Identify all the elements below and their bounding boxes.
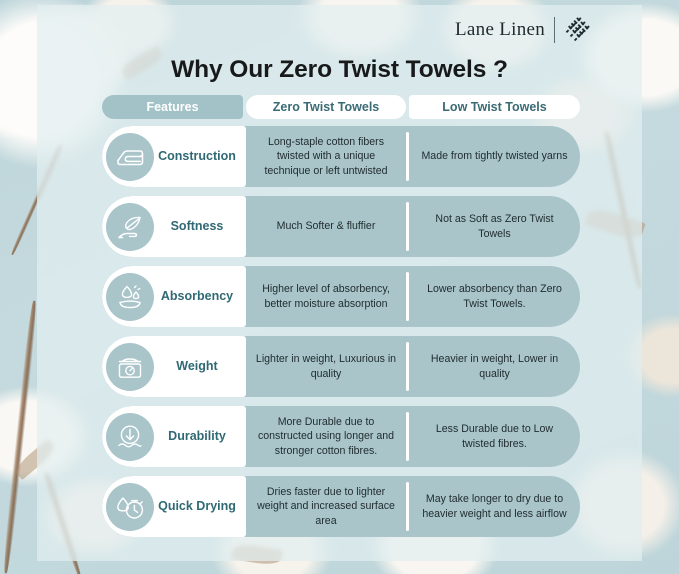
table-row: Durability More Durable due to construct… [102, 406, 580, 467]
water-droplet-absorb-icon [106, 273, 154, 321]
cotton-branch-stem-icon [2, 300, 39, 573]
down-arrow-waves-icon [106, 413, 154, 461]
column-header-low-twist: Low Twist Towels [409, 95, 580, 119]
comparison-table: Features Zero Twist Towels Low Twist Tow… [102, 95, 580, 546]
low-twist-cell: Heavier in weight, Lower in quality [409, 336, 580, 397]
brand-name: Lane Linen [455, 19, 545, 41]
folded-towel-icon [106, 133, 154, 181]
zero-twist-cell: Dries faster due to lighter weight and i… [246, 476, 406, 537]
low-twist-cell: Not as Soft as Zero Twist Towels [409, 196, 580, 257]
kitchen-scale-icon [106, 343, 154, 391]
table-row: Softness Much Softer & fluffier Not as S… [102, 196, 580, 257]
zero-twist-cell: Long-staple cotton fibers twisted with a… [246, 126, 406, 187]
hand-with-feather-icon [106, 203, 154, 251]
infographic-canvas: Lane Linen Why Our Zero Twist Towels ? F… [0, 0, 679, 574]
column-header-features: Features [102, 95, 243, 119]
feature-cell: Absorbency [102, 266, 246, 327]
table-row: Construction Long-staple cotton fibers t… [102, 126, 580, 187]
feature-label: Softness [154, 219, 246, 233]
zero-twist-cell: Much Softer & fluffier [246, 196, 406, 257]
table-row: Absorbency Higher level of absorbency, b… [102, 266, 580, 327]
brand-lockup: Lane Linen [455, 16, 591, 43]
table-row: Weight Lighter in weight, Luxurious in q… [102, 336, 580, 397]
table-row: Quick Drying Dries faster due to lighter… [102, 476, 580, 537]
droplet-stopwatch-icon [106, 483, 154, 531]
feature-cell: Quick Drying [102, 476, 246, 537]
page-title: Why Our Zero Twist Towels ? [0, 56, 679, 84]
table-header-row: Features Zero Twist Towels Low Twist Tow… [102, 95, 580, 119]
feature-label: Construction [154, 149, 246, 163]
column-header-zero-twist: Zero Twist Towels [246, 95, 406, 119]
feature-label: Absorbency [154, 289, 246, 303]
low-twist-cell: Less Durable due to Low twisted fibres. [409, 406, 580, 467]
woven-diamond-logo-icon [564, 16, 591, 43]
feature-label: Quick Drying [154, 499, 246, 513]
feature-cell: Construction [102, 126, 246, 187]
low-twist-cell: May take longer to dry due to heavier we… [409, 476, 580, 537]
low-twist-cell: Made from tightly twisted yarns [409, 126, 580, 187]
feature-cell: Durability [102, 406, 246, 467]
zero-twist-cell: Higher level of absorbency, better moist… [246, 266, 406, 327]
brand-divider [554, 17, 555, 43]
zero-twist-cell: More Durable due to constructed using lo… [246, 406, 406, 467]
feature-cell: Softness [102, 196, 246, 257]
zero-twist-cell: Lighter in weight, Luxurious in quality [246, 336, 406, 397]
feature-label: Weight [154, 359, 246, 373]
low-twist-cell: Lower absorbency than Zero Twist Towels. [409, 266, 580, 327]
feature-cell: Weight [102, 336, 246, 397]
feature-label: Durability [154, 429, 246, 443]
